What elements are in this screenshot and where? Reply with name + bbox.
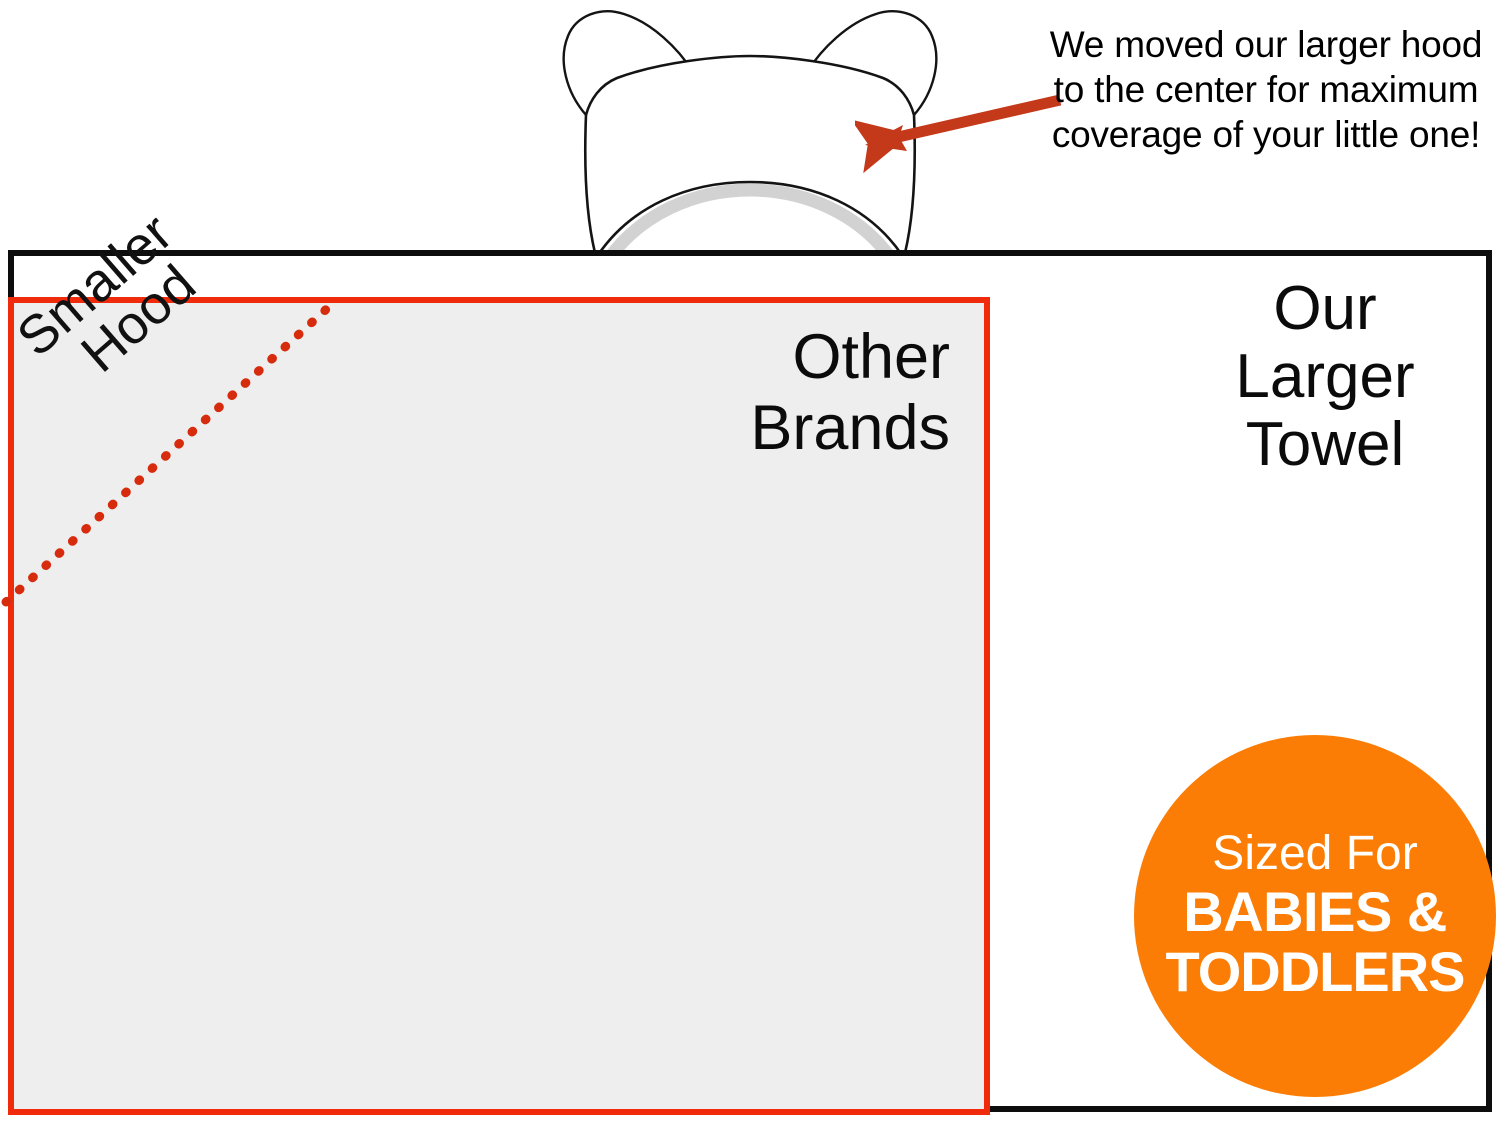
other-brands-label-line-2: Brands (560, 393, 950, 464)
our-larger-towel-label: Our Larger Towel (1175, 275, 1475, 480)
badge-line-sized-for: Sized For (1212, 830, 1417, 878)
arrow-shaft (885, 100, 1060, 140)
product-comparison-graphic: We moved our larger hood to the center f… (0, 0, 1500, 1125)
callout-text: We moved our larger hood to the center f… (1040, 22, 1492, 157)
other-brands-label-line-1: Other (560, 322, 950, 393)
badge-line-babies: BABIES & (1183, 882, 1447, 942)
our-larger-towel-line-1: Our (1175, 275, 1475, 343)
sized-for-badge: Sized For BABIES & TODDLERS (1134, 735, 1496, 1097)
our-larger-towel-line-2: Larger (1175, 343, 1475, 411)
our-larger-towel-line-3: Towel (1175, 411, 1475, 479)
other-brands-label: Other Brands (560, 322, 950, 463)
badge-line-toddlers: TODDLERS (1166, 942, 1465, 1002)
